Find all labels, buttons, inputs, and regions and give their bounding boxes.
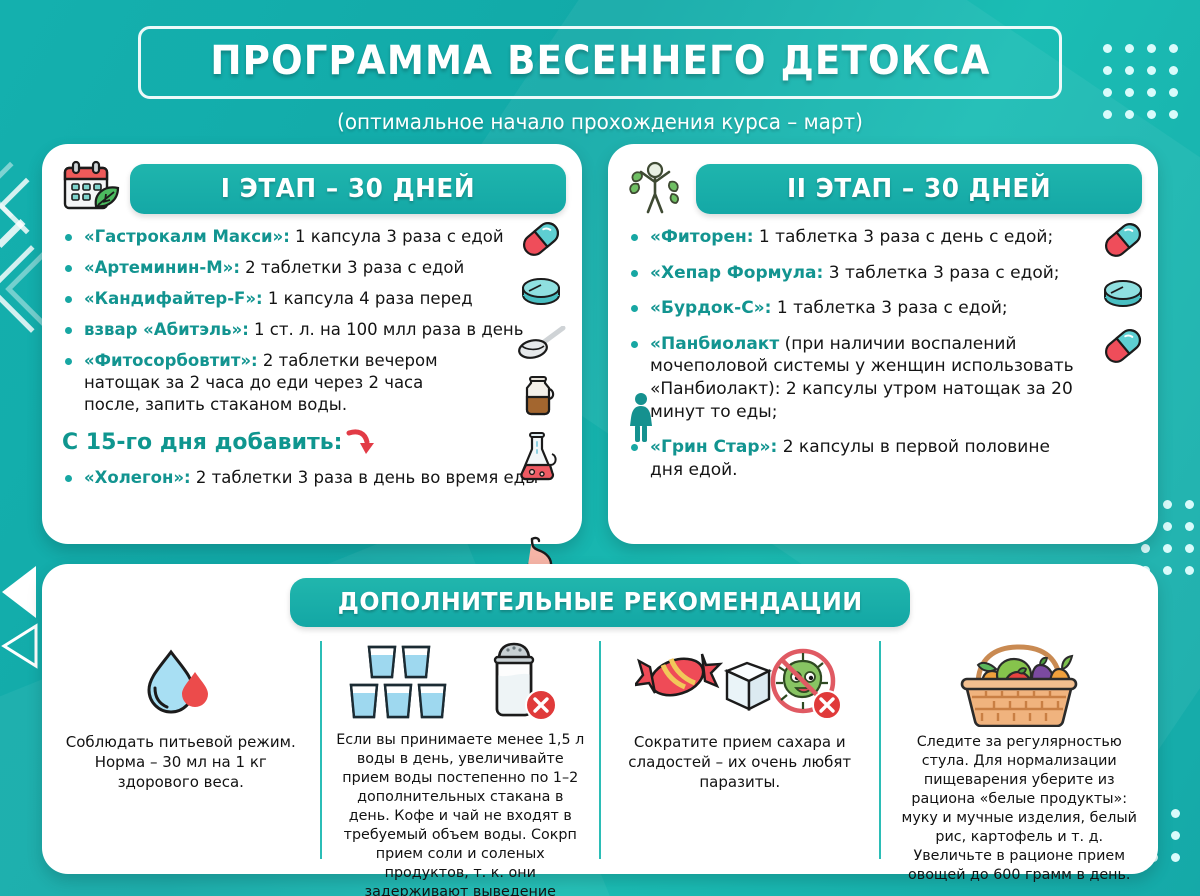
stage-1-subheading-row: С 15-го дня добавить: <box>62 425 566 461</box>
dash-decor-icon <box>0 219 25 248</box>
med-name: «Фиторен: <box>650 227 754 247</box>
stage-2-heading-pill: II ЭТАП – 30 ДНЕЙ <box>696 164 1142 214</box>
med-detail: 2 таблетки 3 раза в день во время еды <box>191 468 539 487</box>
recommendation-text: Если вы принимаете менее 1,5 л воды в де… <box>336 731 586 896</box>
stage-cards-container: I ЭТАП – 30 ДНЕЙ «Гастрокалм Макси»: 1 к… <box>42 144 1158 544</box>
list-item: «Хепар Формула: 3 таблетка 3 раза с едой… <box>624 262 1142 285</box>
stage-1-heading-pill: I ЭТАП – 30 ДНЕЙ <box>130 164 566 214</box>
med-name: взвар «Абитэль»: <box>84 320 249 339</box>
triangle-outline-icon <box>0 620 36 670</box>
page-subtitle: (оптимальное начало прохождения курса – … <box>30 110 1170 134</box>
stage-2-card: II ЭТАП – 30 ДНЕЙ «Фиторен: 1 таблетка 3… <box>608 144 1158 544</box>
list-item: «Артеминин-М»: 2 таблетки 3 раза с едой <box>58 257 566 279</box>
stage-1-subheading: С 15-го дня добавить: <box>62 430 342 455</box>
med-detail: 1 капсула 4 раза перед <box>263 289 473 308</box>
recommendation-text: Следите за регулярностью стула. Для норм… <box>895 733 1145 885</box>
stage-2-list: «Фиторен: 1 таблетка 3 раза с день с едо… <box>624 226 1142 481</box>
med-detail: 3 таблетка 3 раза с едой; <box>823 263 1059 283</box>
med-detail: 1 таблетка 3 раза с день с едой; <box>754 227 1054 247</box>
stage-2-heading: II ЭТАП – 30 ДНЕЙ <box>787 174 1051 204</box>
woman-icon <box>626 392 656 449</box>
med-name: «Фитосорбовтит»: <box>84 351 258 370</box>
list-item: «Гастрокалм Макси»: 1 капсула 3 раза с е… <box>58 226 566 248</box>
poster-root: ПРОГРАММА ВЕСЕННЕГО ДЕТОКСА (оптимальное… <box>0 0 1200 896</box>
med-detail: 1 ст. л. на 100 млл раза в день <box>249 320 524 339</box>
candy-sugar-parasite-icon <box>635 641 845 727</box>
arrow-down-icon <box>346 425 376 461</box>
stage-1-card: I ЭТАП – 30 ДНЕЙ «Гастрокалм Макси»: 1 к… <box>42 144 582 544</box>
list-item: «Панбиолакт (при наличии воспалений моче… <box>624 333 1076 423</box>
med-detail: 1 капсула 3 раза с едой <box>290 227 504 246</box>
chevron-decor-icon <box>0 162 38 219</box>
med-name: «Гастрокалм Макси»: <box>84 227 290 246</box>
recommendations-header-wrap: ДОПОЛНИТЕЛЬНЫЕ РЕКОМЕНДАЦИИ <box>42 578 1158 627</box>
list-item: взвар «Абитэль»: 1 ст. л. на 100 млл раз… <box>58 319 566 341</box>
vegetable-basket-icon <box>944 641 1094 727</box>
water-drop-icon <box>141 641 221 727</box>
recommendations-heading-pill: ДОПОЛНИТЕЛЬНЫЕ РЕКОМЕНДАЦИИ <box>290 578 910 627</box>
tablet-icon <box>1100 277 1154 316</box>
triangle-filled-icon <box>2 566 36 618</box>
stage-1-heading: I ЭТАП – 30 ДНЕЙ <box>221 174 475 204</box>
list-item: «Холегон»: 2 таблетки 3 раза в день во в… <box>58 467 566 489</box>
med-name: «Панбиолакт <box>650 334 779 354</box>
capsule-icon <box>518 220 572 263</box>
poster-header: ПРОГРАММА ВЕСЕННЕГО ДЕТОКСА (оптимальное… <box>0 0 1200 134</box>
recommendation-column-sugar: Сократите прием сахара и сладостей – их … <box>599 641 879 859</box>
med-name: «Кандифайтер-F»: <box>84 289 263 308</box>
stage-2-header: II ЭТАП – 30 ДНЕЙ <box>624 158 1142 220</box>
recommendation-text: Сократите прием сахара и сладостей – их … <box>615 733 865 793</box>
list-item: «Кандифайтер-F»: 1 капсула 4 раза перед <box>58 288 566 310</box>
person-leaves-icon <box>624 160 686 218</box>
stage-1-extra-list: «Холегон»: 2 таблетки 3 раза в день во в… <box>58 467 566 489</box>
recommendations-heading: ДОПОЛНИТЕЛЬНЫЕ РЕКОМЕНДАЦИИ <box>338 587 863 616</box>
capsule-icon <box>1100 220 1154 265</box>
spoon-icon <box>518 326 572 365</box>
med-name: «Бурдок-С»: <box>650 298 771 318</box>
med-name: «Холегон»: <box>84 468 191 487</box>
recommendations-columns: Соблюдать питьевой режим. Норма – 30 мл … <box>42 641 1158 859</box>
recommendations-card: ДОПОЛНИТЕЛЬНЫЕ РЕКОМЕНДАЦИИ Соблюдать пи… <box>42 564 1158 874</box>
tablet-icon <box>518 275 572 314</box>
jug-icon <box>518 375 572 422</box>
med-detail: 1 таблетка 3 раза с едой; <box>771 298 1007 318</box>
flask-icon <box>518 432 572 489</box>
stage-2-icon-rail <box>1100 220 1154 375</box>
med-detail: 2 таблетки 3 раза с едой <box>240 258 464 277</box>
med-name: «Грин Стар»: <box>650 437 777 457</box>
recommendation-column-water: Соблюдать питьевой режим. Норма – 30 мл … <box>42 641 320 859</box>
med-name: «Хепар Формула: <box>650 263 823 283</box>
glasses-and-salt-icon <box>345 641 575 725</box>
calendar-leaf-icon <box>58 160 120 218</box>
list-item: «Грин Стар»: 2 капсулы в первой половине… <box>624 436 1076 481</box>
title-frame: ПРОГРАММА ВЕСЕННЕГО ДЕТОКСА <box>138 26 1063 99</box>
stage-1-icon-rail <box>518 220 572 588</box>
list-item: «Фитосорбовтит»: 2 таблетки вечером нато… <box>58 350 478 416</box>
recommendation-column-fiber: Следите за регулярностью стула. Для норм… <box>879 641 1159 859</box>
recommendation-text: Соблюдать питьевой режим. Норма – 30 мл … <box>56 733 306 793</box>
stage-1-list: «Гастрокалм Макси»: 1 капсула 3 раза с е… <box>58 226 566 416</box>
list-item: «Бурдок-С»: 1 таблетка 3 раза с едой; <box>624 297 1142 320</box>
capsule-icon <box>1100 326 1154 371</box>
list-item: «Фиторен: 1 таблетка 3 раза с день с едо… <box>624 226 1142 249</box>
stage-1-header: I ЭТАП – 30 ДНЕЙ <box>58 158 566 220</box>
recommendation-column-hydration: Если вы принимаете менее 1,5 л воды в де… <box>320 641 600 859</box>
med-name: «Артеминин-М»: <box>84 258 240 277</box>
page-title: ПРОГРАММА ВЕСЕННЕГО ДЕТОКСА <box>210 38 990 84</box>
